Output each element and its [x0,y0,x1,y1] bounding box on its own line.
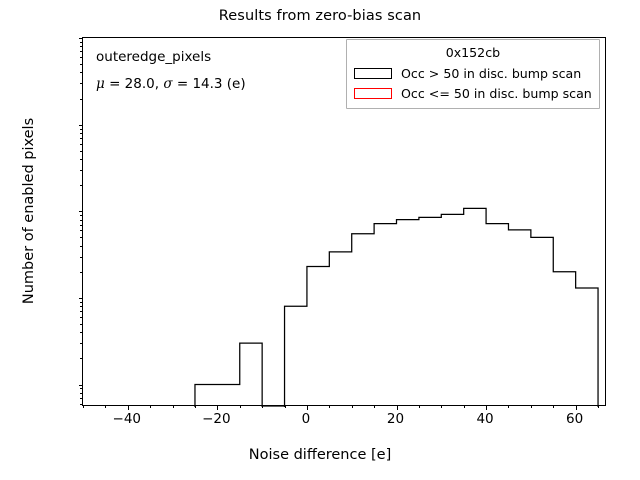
legend-swatch-red-icon [354,88,392,99]
x-tick [397,405,398,410]
x-tick [128,405,129,410]
x-tick-label: 60 [566,411,583,427]
y-minor-tick [80,393,83,394]
y-minor-tick [80,159,83,160]
y-minor-tick [80,311,83,312]
y-minor-tick [80,51,83,52]
legend-item-black[interactable]: Occ > 50 in disc. bump scan [354,63,592,83]
y-minor-tick [80,133,83,134]
x-tick [217,405,218,410]
x-tick-label: 40 [476,411,493,427]
legend-title: 0x152cb [354,44,592,63]
y-tick [79,298,84,299]
y-minor-tick [80,42,83,43]
x-minor-tick [262,405,263,408]
x-minor-tick [173,405,174,408]
y-minor-tick [80,358,83,359]
y-minor-tick [80,220,83,221]
x-tick [486,405,487,410]
y-minor-tick [80,46,83,47]
y-minor-tick [80,144,83,145]
y-axis-label: Number of enabled pixels [21,21,37,401]
x-minor-tick [105,405,106,408]
sigma-symbol: σ [163,76,172,92]
y-minor-tick [80,99,83,100]
annotation-block: outeredge_pixels μ = 28.0, σ = 14.3 (e) [96,44,246,98]
series-step-black [195,208,598,407]
page-title: Results from zero-bias scan [0,8,640,24]
y-minor-tick [80,404,83,405]
y-minor-tick [80,230,83,231]
x-minor-tick [374,405,375,408]
x-tick-label: 0 [302,411,311,427]
y-minor-tick [80,138,83,139]
y-minor-tick [80,398,83,399]
legend-swatch-black-icon [354,68,392,79]
mu-symbol: μ [96,76,105,92]
y-tick [79,385,84,386]
y-minor-tick [80,185,83,186]
y-minor-tick [80,64,83,65]
y-minor-tick [80,388,83,389]
x-minor-tick [240,405,241,408]
y-minor-tick [80,215,83,216]
x-minor-tick [285,405,286,408]
annotation-group-label: outeredge_pixels [96,44,246,71]
x-minor-tick [508,405,509,408]
x-tick [576,405,577,410]
x-tick-label: −40 [113,411,142,427]
y-minor-tick [80,83,83,84]
figure-canvas: Results from zero-bias scan Noise differ… [0,0,640,480]
y-minor-tick [80,317,83,318]
x-tick [307,405,308,410]
x-minor-tick [464,405,465,408]
legend-label-red: Occ <= 50 in disc. bump scan [401,86,592,101]
y-minor-tick [80,332,83,333]
x-minor-tick [441,405,442,408]
y-minor-tick [80,57,83,58]
y-minor-tick [80,246,83,247]
y-minor-tick [80,225,83,226]
y-tick [79,125,84,126]
legend-item-red[interactable]: Occ <= 50 in disc. bump scan [354,83,592,103]
y-minor-tick [80,170,83,171]
y-minor-tick [80,306,83,307]
y-minor-tick [80,343,83,344]
legend-box: 0x152cb Occ > 50 in disc. bump scan Occ … [346,39,600,109]
x-minor-tick [419,405,420,408]
x-minor-tick [352,405,353,408]
x-axis-label: Noise difference [e] [0,447,640,463]
x-tick-label: −20 [202,411,231,427]
y-minor-tick [80,151,83,152]
mu-value: = 28.0, [105,76,164,92]
y-minor-tick [80,302,83,303]
x-tick-label: 20 [387,411,404,427]
y-minor-tick [80,72,83,73]
x-minor-tick [531,405,532,408]
x-minor-tick [195,405,196,408]
y-tick [79,211,84,212]
x-minor-tick [329,405,330,408]
y-minor-tick [80,129,83,130]
legend-label-black: Occ > 50 in disc. bump scan [401,66,581,81]
x-minor-tick [553,405,554,408]
y-minor-tick [80,257,83,258]
y-minor-tick [80,272,83,273]
y-minor-tick [80,237,83,238]
sigma-value: = 14.3 (e) [173,76,246,92]
y-tick [79,38,84,39]
y-minor-tick [80,324,83,325]
annotation-stats: μ = 28.0, σ = 14.3 (e) [96,71,246,98]
x-minor-tick [83,405,84,408]
x-minor-tick [598,405,599,408]
x-minor-tick [150,405,151,408]
